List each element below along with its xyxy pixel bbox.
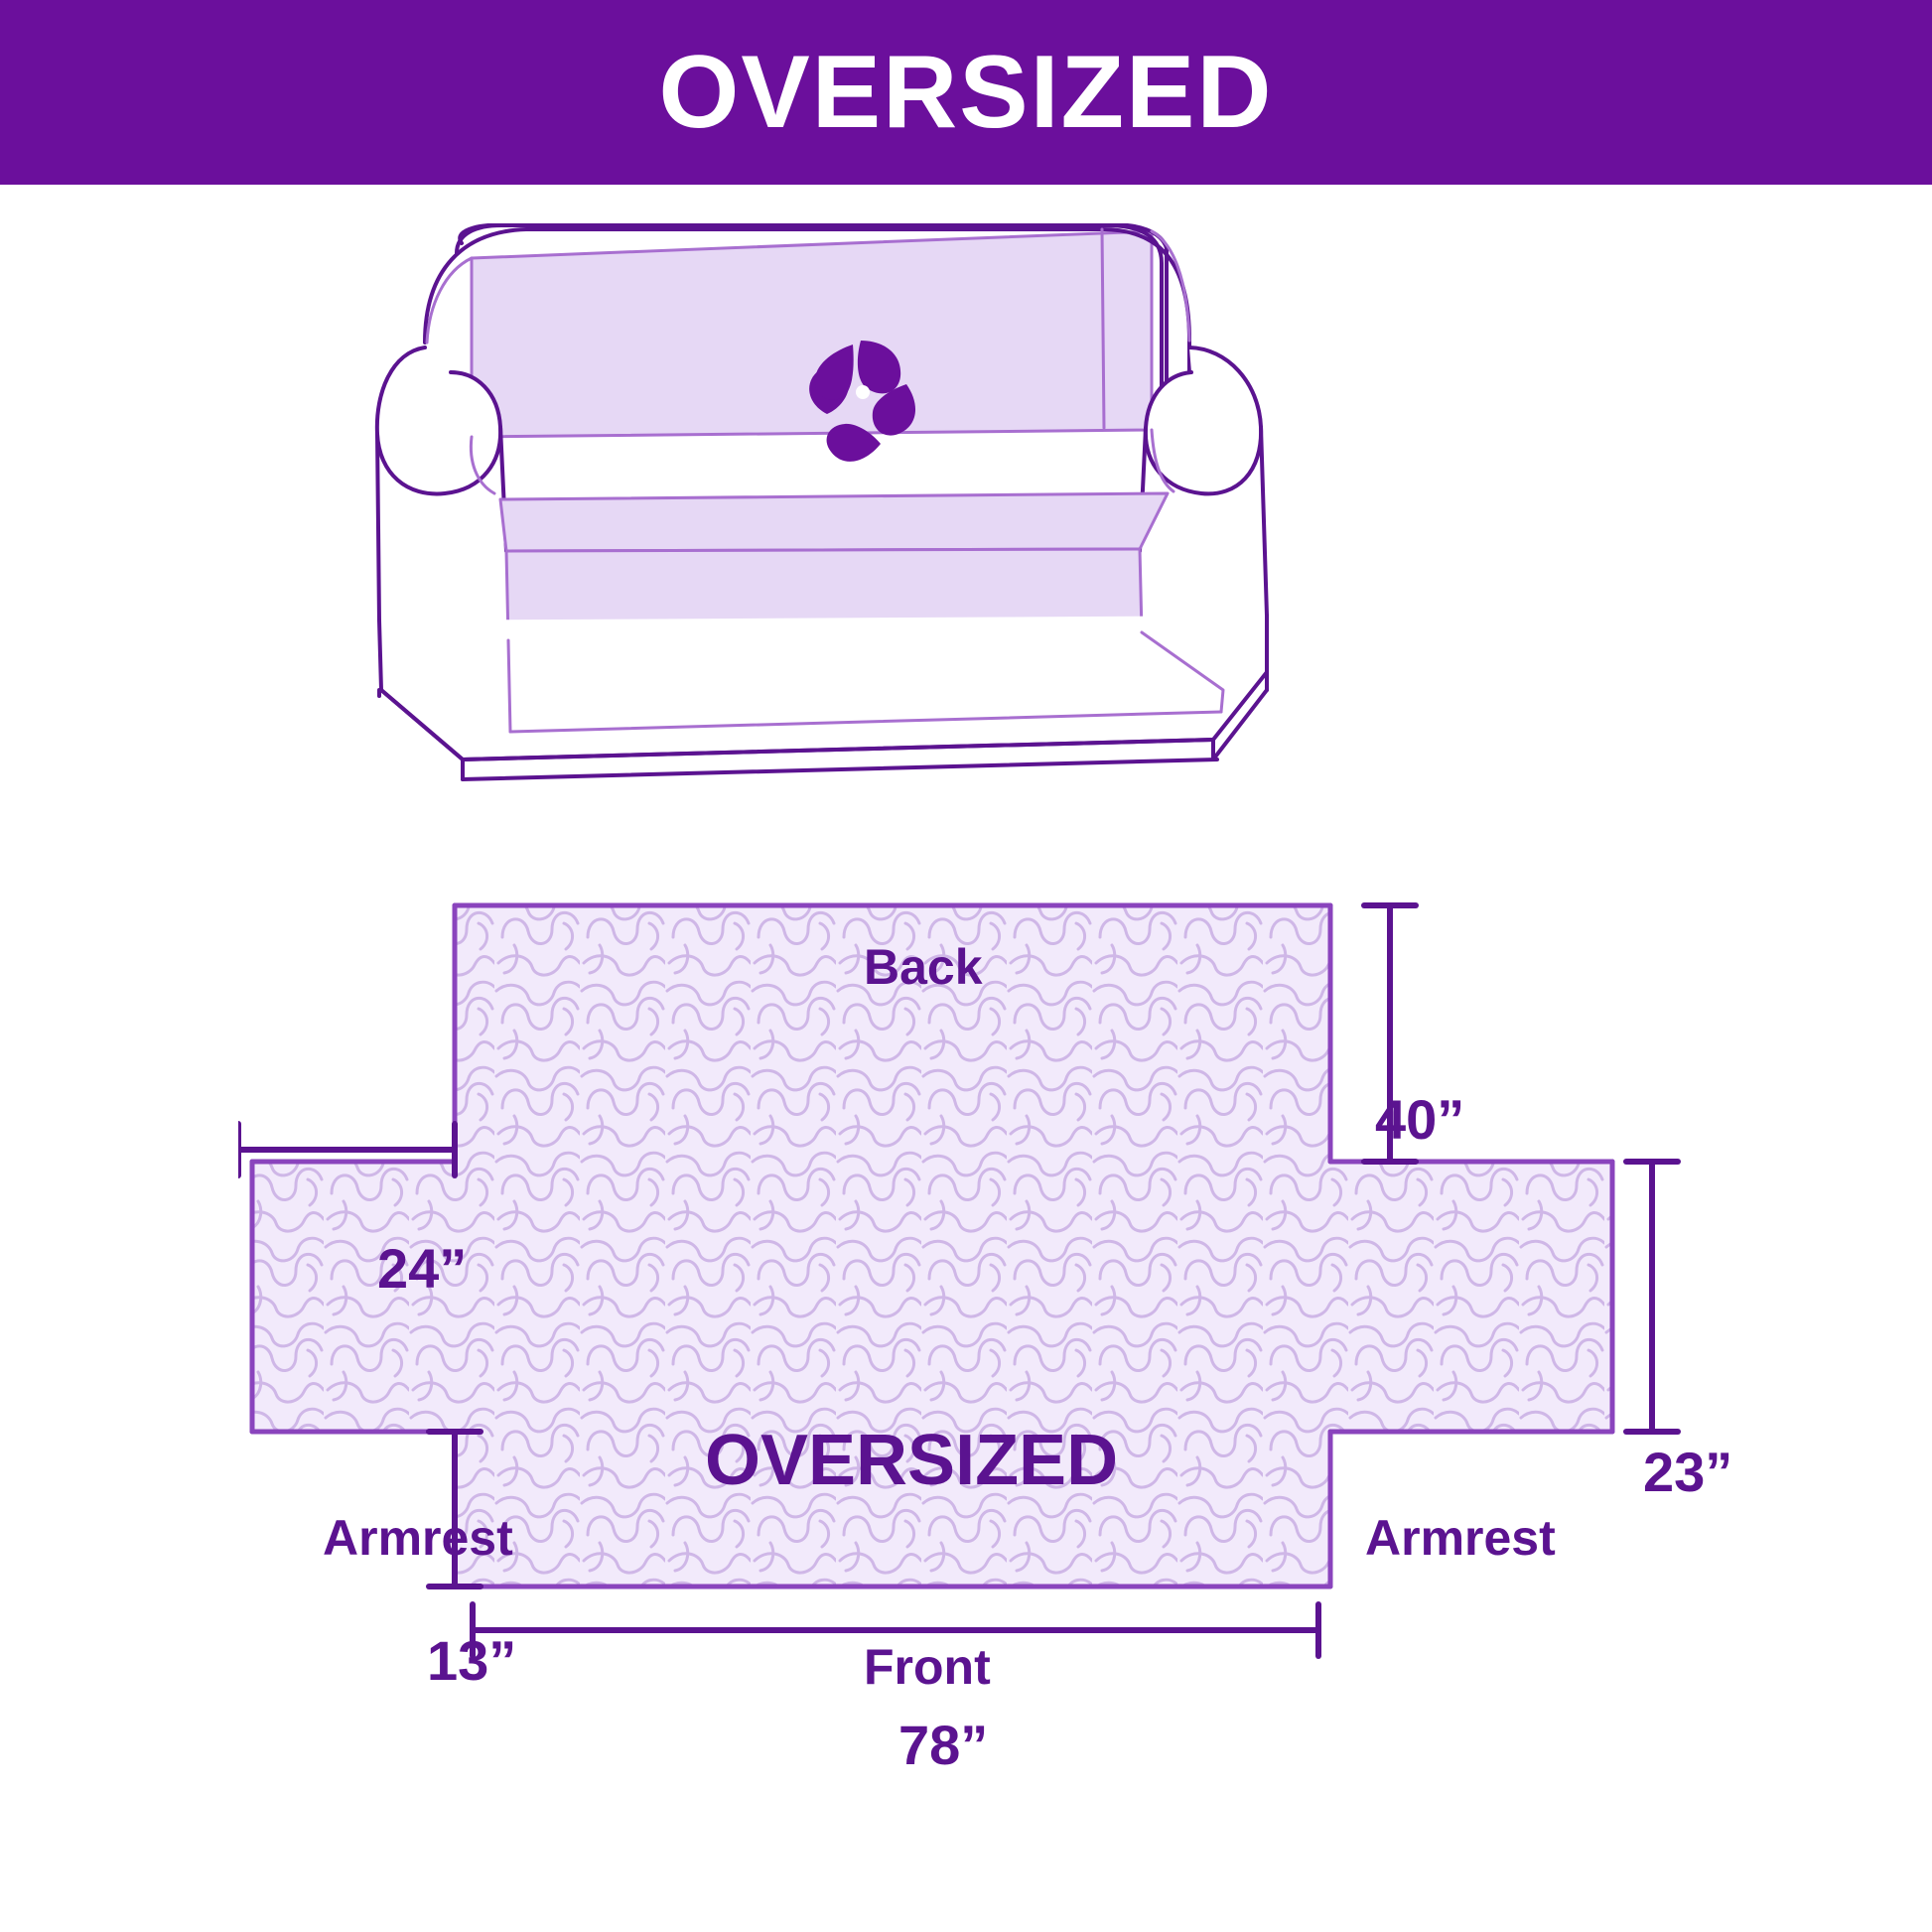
dimension-total-width: 78” [898,1713,988,1777]
panel-label-back: Back [864,938,983,996]
dimension-back-width-shoulder: 24” [377,1236,467,1301]
sofa-illustration [367,223,1588,839]
panel-label-armrest-right: Armrest [1365,1509,1556,1567]
dimension-front-drop: 13” [427,1628,516,1693]
dimension-back-height: 40” [1375,1087,1464,1152]
page-title: OVERSIZED [659,41,1274,144]
header-banner: OVERSIZED [0,0,1932,185]
panel-label-armrest-left: Armrest [323,1509,513,1567]
cover-product-label: OVERSIZED [705,1420,1118,1501]
dimension-armrest-height: 23” [1643,1440,1732,1504]
panel-label-front: Front [864,1638,991,1696]
